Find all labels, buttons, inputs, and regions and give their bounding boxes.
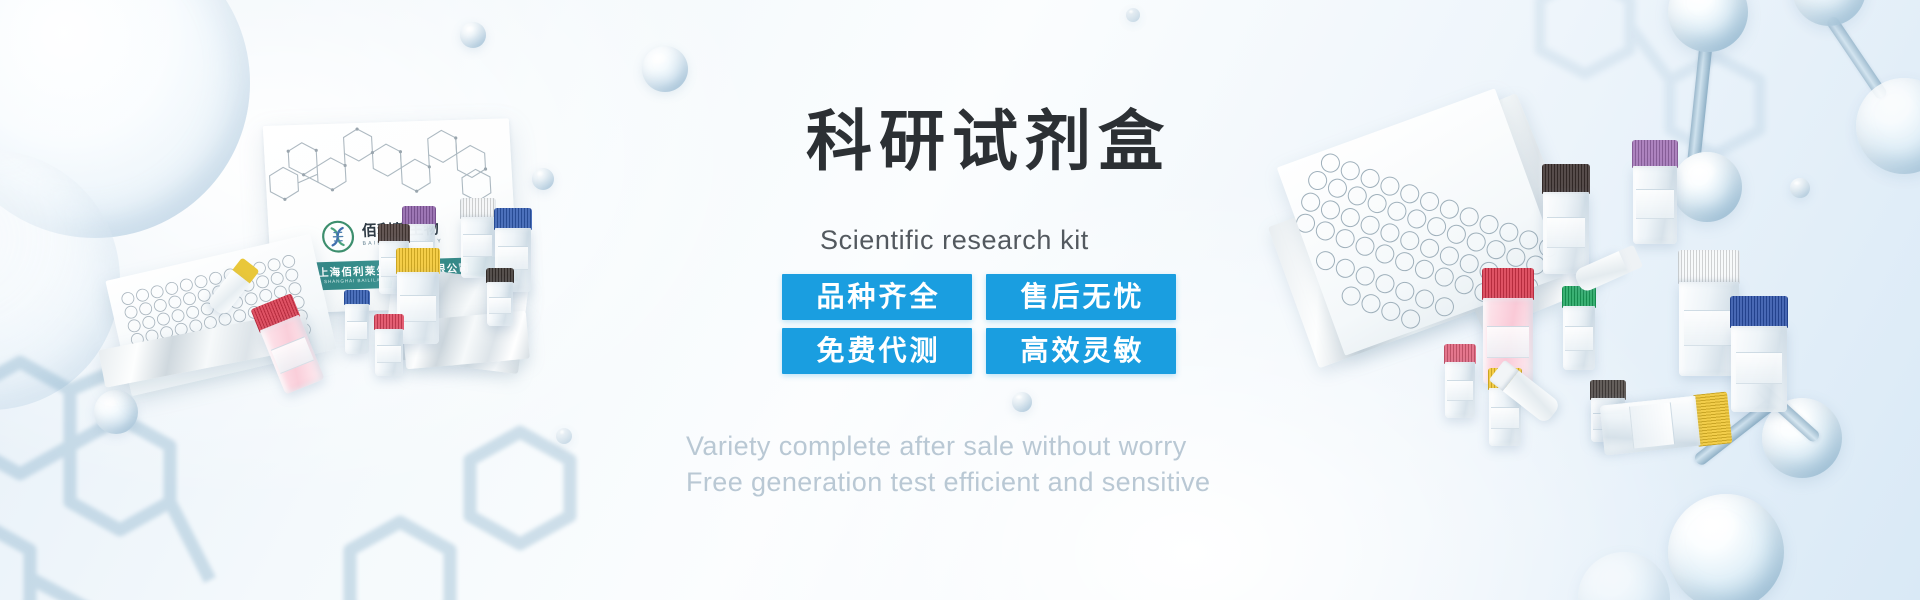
banner-copy: 科研试剂盒 Scientific research kit 品种齐全 售后无忧 …	[0, 0, 1920, 600]
feature-badge-aftersale[interactable]: 售后无忧	[986, 274, 1176, 320]
feature-badge-sensitive[interactable]: 高效灵敏	[986, 328, 1176, 374]
promo-banner: 佰利莱生物 BAILILAI BIOLOGY 上海佰利莱生物科技有限公司 SHA…	[0, 0, 1920, 600]
feature-badge-group: 品种齐全 售后无忧 免费代测 高效灵敏	[782, 274, 1176, 374]
feature-badge-free-testing[interactable]: 免费代测	[782, 328, 972, 374]
feature-badge-variety[interactable]: 品种齐全	[782, 274, 972, 320]
tagline-line-1: Variety complete after sale without worr…	[686, 428, 1210, 464]
page-title: 科研试剂盒	[806, 108, 1171, 174]
tagline-line-2: Free generation test efficient and sensi…	[686, 464, 1210, 500]
tagline: Variety complete after sale without worr…	[686, 428, 1210, 501]
page-subtitle: Scientific research kit	[820, 225, 1089, 256]
